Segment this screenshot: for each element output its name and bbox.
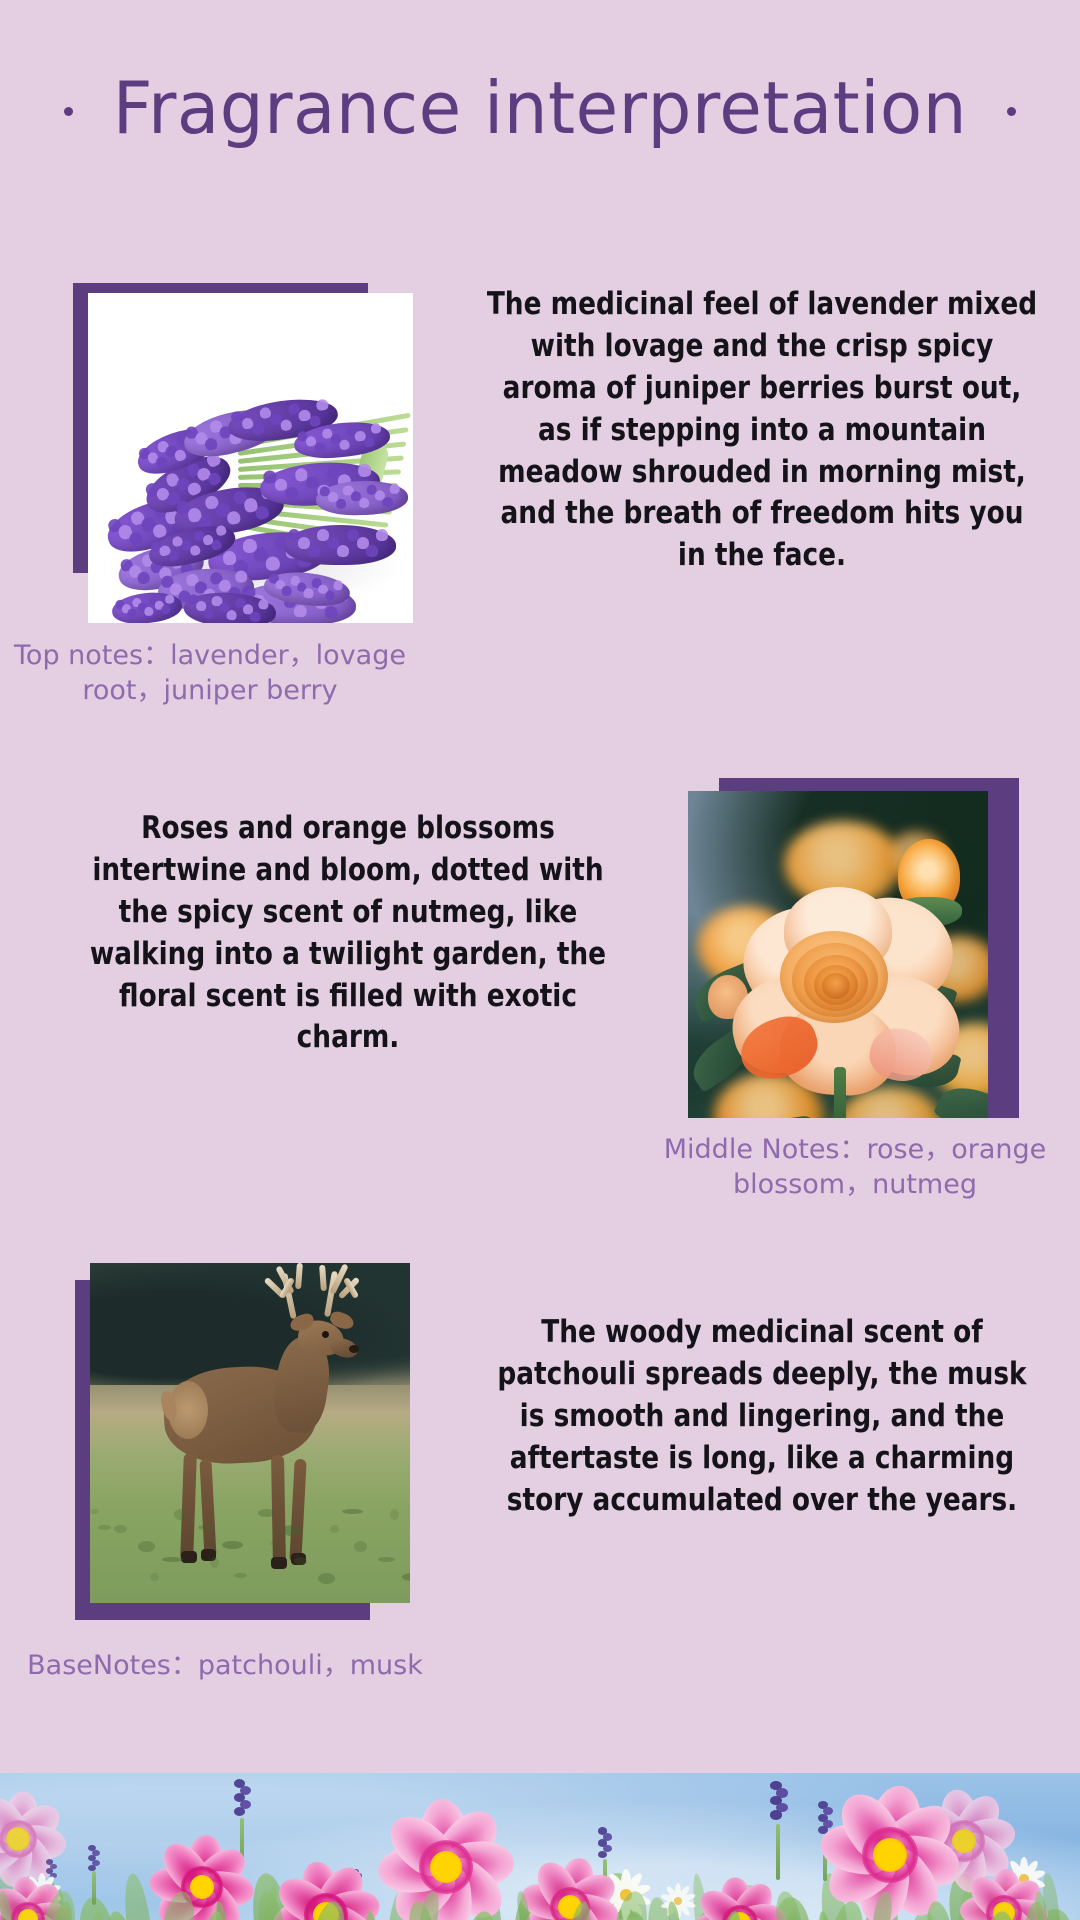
- caption-middle-notes: Middle Notes：rose，orange blossom，nutmeg: [640, 1132, 1070, 1202]
- page-title: Fragrance interpretation: [113, 72, 967, 144]
- paragraph-middle-notes: Roses and orange blossoms intertwine and…: [69, 808, 627, 1059]
- photo-deer: [90, 1263, 410, 1603]
- paragraph-base-notes: The woody medicinal scent of patchouli s…: [483, 1312, 1041, 1521]
- page-title-row: Fragrance interpretation: [0, 72, 1080, 144]
- title-left-dot-icon: [64, 107, 73, 116]
- lavender-bouquet-illustration: [88, 293, 413, 623]
- footer-flower-border: [0, 1773, 1080, 1920]
- poster-root: Fragrance interpretation Top notes：laven…: [0, 0, 1080, 1920]
- caption-top-notes: Top notes：lavender，lovage root，juniper b…: [10, 638, 410, 708]
- photo-lavender: [88, 293, 413, 623]
- paragraph-top-notes: The medicinal feel of lavender mixed wit…: [483, 284, 1041, 577]
- title-right-dot-icon: [1007, 107, 1016, 116]
- orange-rose-illustration: [688, 791, 988, 1118]
- caption-base-notes: BaseNotes：patchouli，musk: [10, 1648, 440, 1683]
- red-deer-stag-illustration: [90, 1263, 410, 1603]
- photo-rose: [688, 791, 988, 1118]
